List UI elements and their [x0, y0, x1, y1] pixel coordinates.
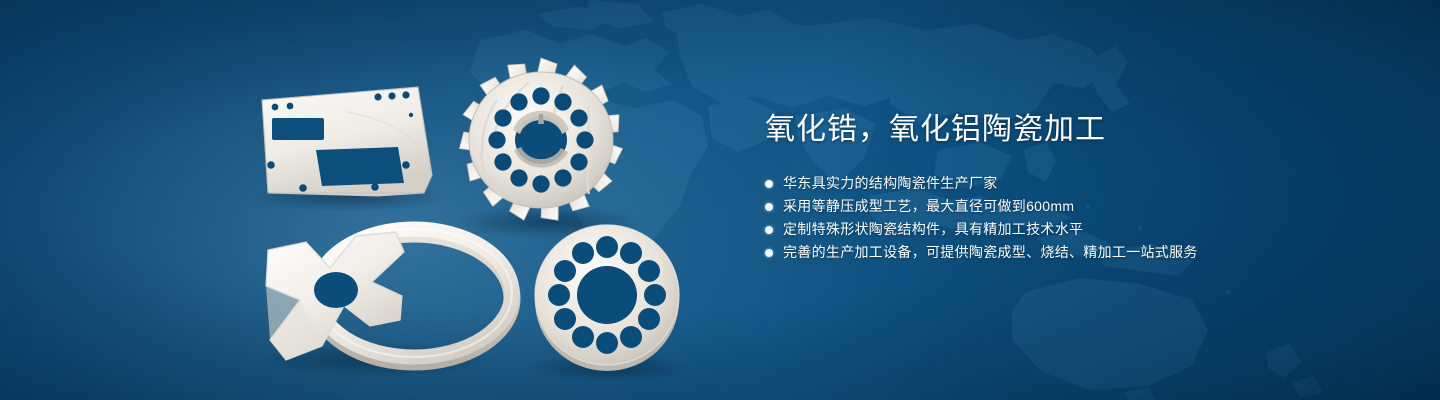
feature-text: 定制特殊形状陶瓷结构件，具有精加工技术水平 [783, 218, 1083, 241]
page-title: 氧化锆，氧化铝陶瓷加工 [765, 110, 1385, 150]
bullet-dot-icon [765, 226, 773, 234]
feature-text: 华东具实力的结构陶瓷件生产厂家 [783, 172, 998, 195]
hero-banner: 氧化锆，氧化铝陶瓷加工 华东具实力的结构陶瓷件生产厂家 采用等静压成型工艺，最大… [0, 0, 1440, 400]
list-item: 采用等静压成型工艺，最大直径可做到600mm [765, 195, 1385, 218]
bullet-dot-icon [765, 180, 773, 188]
list-item: 华东具实力的结构陶瓷件生产厂家 [765, 172, 1385, 195]
banner-copy: 氧化锆，氧化铝陶瓷加工 华东具实力的结构陶瓷件生产厂家 采用等静压成型工艺，最大… [765, 110, 1385, 264]
bullet-dot-icon [765, 249, 773, 257]
feature-text: 完善的生产加工设备，可提供陶瓷成型、烧结、精加工一站式服务 [783, 241, 1198, 264]
feature-list: 华东具实力的结构陶瓷件生产厂家 采用等静压成型工艺，最大直径可做到600mm 定… [765, 172, 1385, 264]
feature-text: 采用等静压成型工艺，最大直径可做到600mm [783, 195, 1074, 218]
list-item: 定制特殊形状陶瓷结构件，具有精加工技术水平 [765, 218, 1385, 241]
ceramic-parts-photo [0, 0, 760, 400]
list-item: 完善的生产加工设备，可提供陶瓷成型、烧结、精加工一站式服务 [765, 241, 1385, 264]
bullet-dot-icon [765, 203, 773, 211]
